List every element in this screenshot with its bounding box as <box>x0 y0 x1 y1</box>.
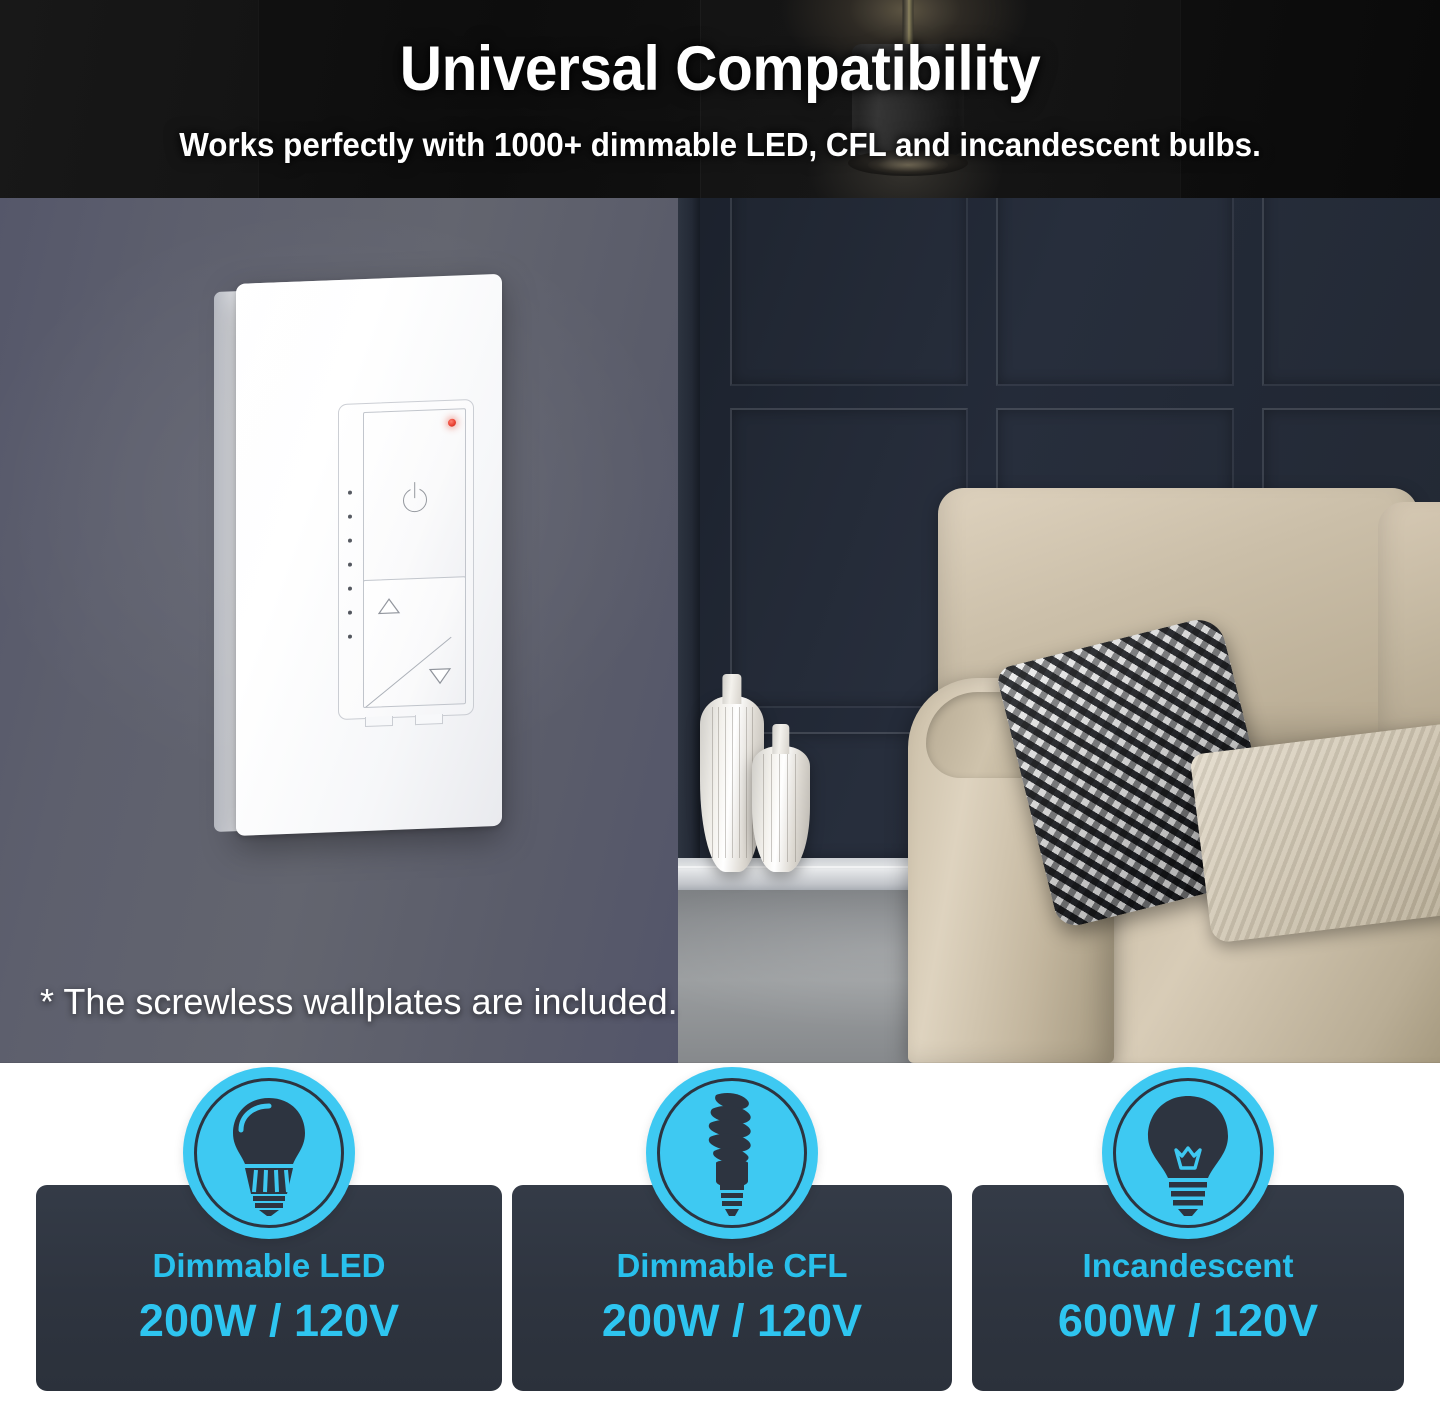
level-dot <box>348 515 352 519</box>
mounting-tab <box>365 716 393 727</box>
wall-column-edge <box>678 198 700 888</box>
sofa-back-cushion <box>1378 502 1440 750</box>
product-panel <box>0 198 678 1063</box>
card-spec: 200W / 120V <box>36 1295 502 1347</box>
status-led-icon <box>448 419 456 427</box>
compatibility-cards: Dimmable LED 200W / 120V <box>0 1063 1440 1401</box>
incandescent-bulb-icon <box>1102 1067 1274 1239</box>
compatibility-card-cfl[interactable]: Dimmable CFL 200W / 120V <box>512 1185 952 1391</box>
level-dot <box>348 563 352 567</box>
vase-neck <box>772 724 789 754</box>
triangle-down-icon[interactable] <box>427 666 453 687</box>
card-label: Dimmable CFL <box>512 1247 952 1285</box>
compatibility-card-incandescent[interactable]: Incandescent 600W / 120V <box>972 1185 1404 1391</box>
level-dot <box>348 587 352 591</box>
card-spec: 600W / 120V <box>972 1295 1404 1347</box>
vase-ribs <box>708 707 757 858</box>
dimmer-device-body <box>338 399 474 720</box>
incandescent-bulb-glyph <box>1136 1090 1240 1216</box>
power-icon-stem <box>414 482 416 498</box>
level-dot <box>348 635 352 639</box>
cfl-bulb-glyph <box>680 1089 784 1217</box>
smart-dimmer-switch <box>214 284 510 840</box>
rocker-diagonal-line <box>363 637 452 708</box>
wall-panel <box>996 198 1234 386</box>
level-dot <box>348 491 352 495</box>
page-title: Universal Compatibility <box>50 37 1389 101</box>
sofa <box>908 488 1440 1063</box>
power-button[interactable] <box>363 408 466 588</box>
accent-pillow <box>1189 722 1440 943</box>
scene-section: * The screwless wallplates are included. <box>0 198 1440 1063</box>
level-dot <box>348 611 352 615</box>
wallplate-face <box>236 274 502 836</box>
dimmer-controls <box>363 408 466 708</box>
mounting-tab <box>415 714 443 725</box>
wallplate-side <box>214 291 248 832</box>
vase-ribs <box>759 754 803 862</box>
level-dot <box>348 539 352 543</box>
vase-neck <box>722 674 741 704</box>
triangle-up-icon[interactable] <box>376 596 402 617</box>
header-banner: Universal Compatibility Works perfectly … <box>0 0 1440 198</box>
level-indicator-leds <box>348 490 355 660</box>
room-photo <box>678 198 1440 1063</box>
power-icon-gap <box>410 486 419 493</box>
page-subtitle: Works perfectly with 1000+ dimmable LED,… <box>36 126 1404 164</box>
power-icon <box>398 479 432 514</box>
product-feature-image: Universal Compatibility Works perfectly … <box>0 0 1440 1401</box>
decorative-vase <box>752 746 810 872</box>
card-spec: 200W / 120V <box>512 1295 952 1347</box>
compatibility-card-led[interactable]: Dimmable LED 200W / 120V <box>36 1185 502 1391</box>
led-bulb-glyph <box>217 1090 321 1216</box>
wall-panel <box>730 198 968 386</box>
led-bulb-icon <box>183 1067 355 1239</box>
dimmer-rocker-button[interactable] <box>363 576 466 708</box>
card-label: Incandescent <box>972 1247 1404 1285</box>
device-mounting-tabs <box>365 714 449 727</box>
caption-text: * The screwless wallplates are included. <box>40 981 678 1023</box>
wall-panel <box>1262 198 1440 386</box>
cfl-bulb-icon <box>646 1067 818 1239</box>
power-icon-ring <box>403 488 427 513</box>
card-label: Dimmable LED <box>36 1247 502 1285</box>
